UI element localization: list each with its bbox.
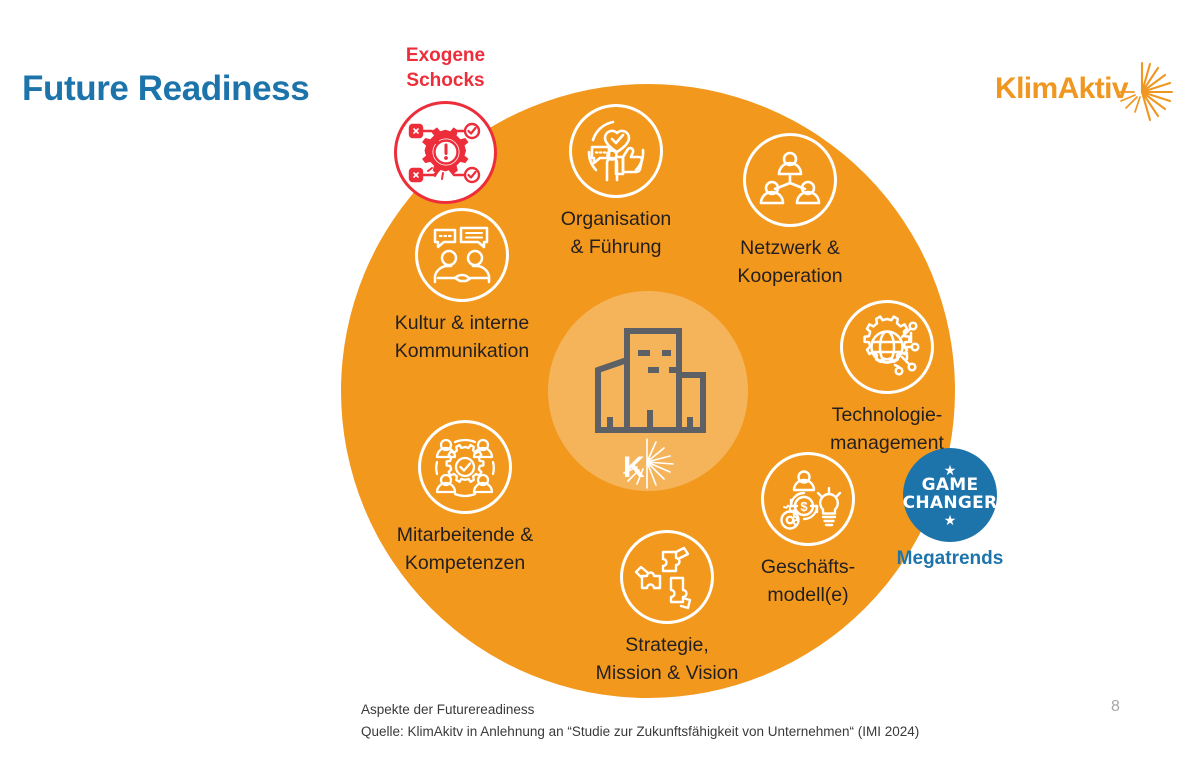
page-title: Future Readiness [22,69,309,109]
game-changer-line-2: CHANGER [903,495,998,513]
aspect-label: Kultur & interne Kommunikation [362,310,562,365]
page-number: 8 [1111,698,1120,716]
sunburst-icon [1110,60,1174,129]
two-people-speech-icon [415,208,509,302]
exogene-schocks-label: Exogene Schocks [358,43,533,93]
aspect-mitarbeitende-kompetenzen[interactable]: Mitarbeitende & Kompetenzen [365,420,565,577]
gears-money-lightbulb-icon: $ [761,452,855,546]
people-network-icon [743,133,837,227]
svg-text:$: $ [800,499,808,514]
office-building-icon [586,327,710,442]
svg-text:K: K [623,451,645,484]
heart-thumbsup-speech-icon [569,104,663,198]
source-footer: Aspekte der Futurereadiness Quelle: Klim… [361,699,919,743]
footer-line-1: Aspekte der Futurereadiness [361,699,919,721]
star-icon: ★ [944,465,957,475]
star-icon: ★ [944,515,957,525]
footer-line-2: Quelle: KlimAkitv in Anlehnung an “Studi… [361,721,919,743]
puzzle-hands-icon [620,530,714,624]
game-changer-badge[interactable]: ★ GAME CHANGER ★ Megatrends [880,448,1020,570]
game-changer-circle: ★ GAME CHANGER ★ [903,448,997,542]
gear-alert-icon [394,101,497,204]
aspect-strategie-mission-vision[interactable]: Strategie, Mission & Vision [567,530,767,687]
aspect-netzwerk-kooperation[interactable]: Netzwerk & Kooperation [690,133,890,290]
brand-logo: KlimAktiv [995,68,1175,138]
aspect-label: Netzwerk & Kooperation [690,235,890,290]
k-sunburst-icon: K [611,435,685,498]
exogene-schocks-callout[interactable]: Exogene Schocks [358,43,533,204]
aspect-technologiemanagement[interactable]: Technologie- management [787,300,987,457]
aspect-label: Strategie, Mission & Vision [567,632,767,687]
team-gear-check-icon [418,420,512,514]
megatrends-label: Megatrends [880,548,1020,570]
gear-globe-circuit-icon [840,300,934,394]
aspect-kultur-interne-kommunikation[interactable]: Kultur & interne Kommunikation [362,208,562,365]
aspect-label: Mitarbeitende & Kompetenzen [365,522,565,577]
brand-name: KlimAktiv [995,72,1128,106]
